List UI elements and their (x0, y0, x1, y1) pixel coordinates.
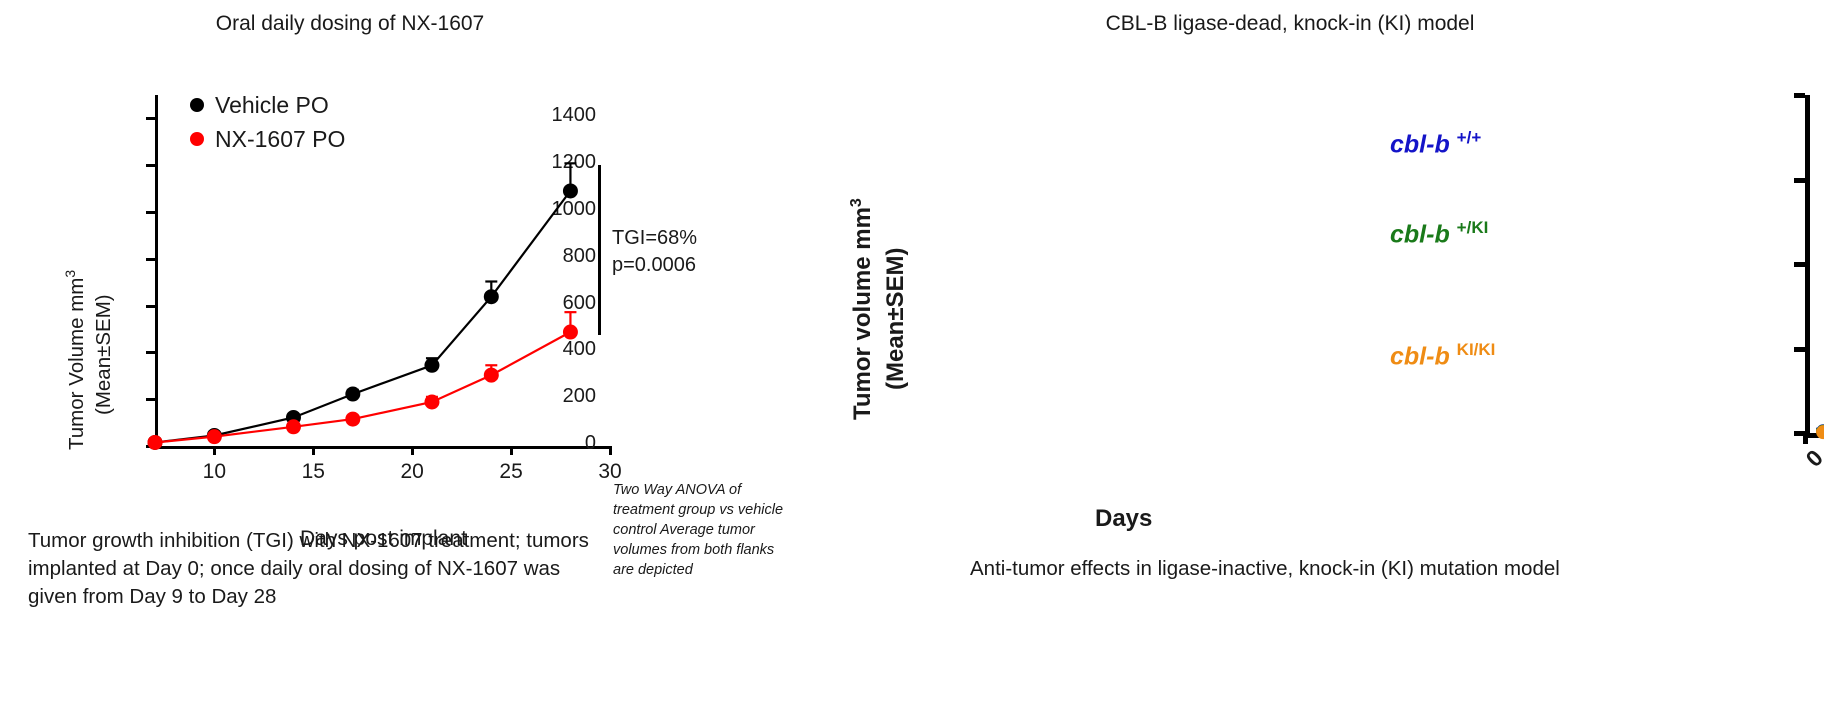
left-chart-series (155, 95, 610, 455)
y-tick-mark (146, 351, 155, 354)
y-tick-mark (146, 117, 155, 120)
data-point (345, 387, 360, 402)
pvalue: p=0.0006 (612, 252, 697, 279)
y-tick-mark (1794, 93, 1805, 98)
right-figure-panel: CBL-B ligase-dead, knock-in (KI) model T… (830, 0, 1824, 725)
y-tick-mark (1794, 347, 1805, 352)
data-point (424, 358, 439, 373)
data-point (207, 429, 222, 444)
x-tick-label: 20 (382, 460, 442, 484)
x-tick-label: 25 (481, 460, 541, 484)
right-panel-title: CBL-B ligase-dead, knock-in (KI) model (910, 12, 1670, 36)
right-y-axis-title: Tumor volume mm3 (848, 198, 877, 420)
series-line (155, 191, 570, 443)
left-tgi-annotation: TGI=68% p=0.0006 (612, 225, 697, 279)
right-chart-plot-area: 05001000150020000510152126 (1805, 95, 1824, 445)
data-point (424, 395, 439, 410)
data-point (1816, 425, 1824, 439)
y-tick-mark (146, 258, 155, 261)
data-point (148, 435, 163, 450)
x-tick-label: 10 (184, 460, 244, 484)
left-y-axis-subtitle: (Mean±SEM) (92, 294, 116, 415)
series-line (155, 332, 570, 443)
data-point (286, 419, 301, 434)
left-panel-caption: Tumor growth inhibition (TGI) with NX-16… (28, 527, 608, 611)
left-figure-panel: Oral daily dosing of NX-1607 Vehicle PO … (0, 0, 830, 725)
data-point (563, 325, 578, 340)
series-label-ki-sup: KI/KI (1457, 340, 1496, 359)
series-label-het-gene: cbl-b (1390, 220, 1450, 248)
y-tick-mark (146, 398, 155, 401)
y-tick-mark (146, 211, 155, 214)
series-label-wt-sup: +/+ (1457, 128, 1482, 147)
left-panel-title: Oral daily dosing of NX-1607 (0, 12, 700, 36)
right-x-axis-title: Days (1095, 505, 1152, 533)
right-y-axis-subtitle: (Mean±SEM) (882, 247, 910, 390)
x-tick-label: 15 (283, 460, 343, 484)
series-label-het-sup: +/KI (1457, 218, 1489, 237)
series-label-cblb-ki: cbl-b KI/KI (1390, 340, 1495, 371)
tgi-value: TGI=68% (612, 225, 697, 252)
left-chart-plot-area: 02004006008001000120014001015202530 (155, 95, 610, 505)
y-tick-mark (146, 305, 155, 308)
left-y-axis-title: Tumor Volume mm3 (62, 270, 89, 450)
y-tick-mark (1794, 178, 1805, 183)
left-annotation-bracket (598, 165, 601, 335)
data-point (563, 183, 578, 198)
y-tick-mark (1794, 262, 1805, 267)
series-label-cblb-wt: cbl-b +/+ (1390, 128, 1481, 159)
data-point (345, 412, 360, 427)
right-panel-caption: Anti-tumor effects in ligase-inactive, k… (970, 555, 1620, 583)
left-statistics-note: Two Way ANOVA of treatment group vs vehi… (613, 480, 798, 580)
y-tick-mark (146, 164, 155, 167)
right-chart-series (1805, 95, 1824, 445)
series-label-ki-gene: cbl-b (1390, 342, 1450, 370)
data-point (484, 368, 499, 383)
series-label-cblb-het: cbl-b +/KI (1390, 218, 1488, 249)
data-point (484, 289, 499, 304)
series-label-wt-gene: cbl-b (1390, 130, 1450, 158)
